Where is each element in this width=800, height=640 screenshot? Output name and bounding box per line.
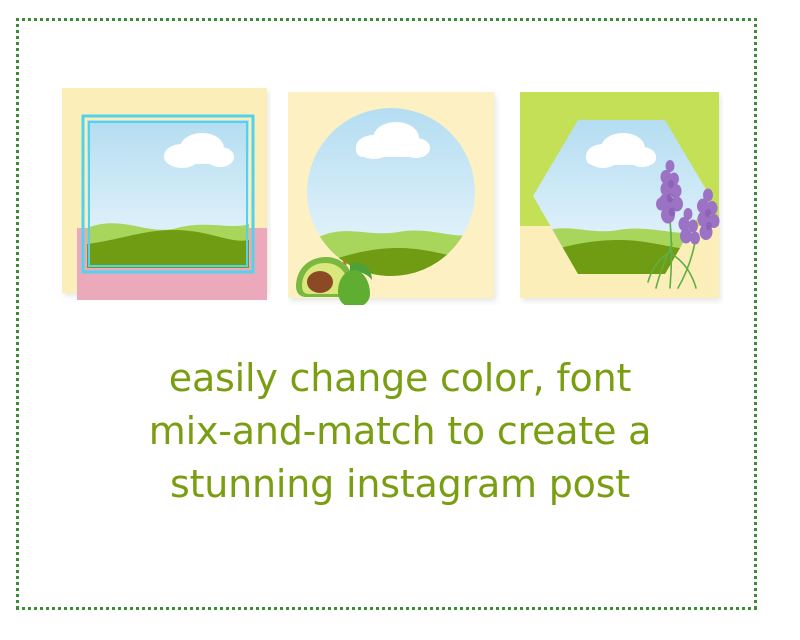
card1-photo-scene (87, 120, 249, 268)
avocado-pit (307, 271, 333, 293)
template-card-circle-mask[interactable] (288, 92, 501, 305)
poster-canvas: easily change color, font mix-and-match … (0, 0, 800, 640)
template-card-hexagon-mask[interactable] (520, 92, 723, 304)
caption-block: easily change color, font mix-and-match … (0, 352, 800, 511)
frame-edge-bottom (16, 607, 757, 610)
caption-line-2: mix-and-match to create a (0, 405, 800, 458)
template-card-rectangle-frame[interactable] (62, 88, 271, 306)
caption-line-3: stunning instagram post (0, 458, 800, 511)
frame-edge-right (754, 18, 757, 610)
frame-edge-top (16, 18, 757, 21)
frame-edge-left (16, 18, 19, 610)
caption-line-1: easily change color, font (0, 352, 800, 405)
